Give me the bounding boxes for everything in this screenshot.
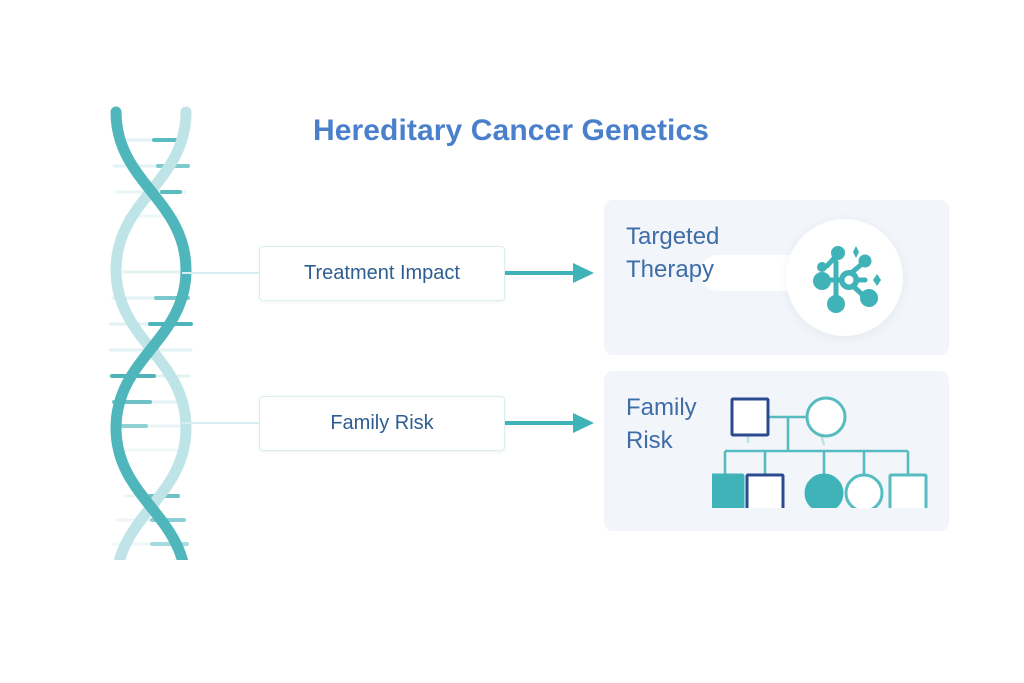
sparkle-icon-top [853, 246, 859, 258]
molecule-node-bottom-right [860, 289, 878, 307]
dna-helix-group [110, 112, 191, 560]
page-title: Hereditary Cancer Genetics [296, 114, 726, 148]
molecule-network-icon [803, 236, 887, 320]
pedigree-father-square [732, 399, 768, 435]
dna-helix-illustration [88, 104, 214, 560]
sparkle-icon-right [873, 274, 881, 286]
icon-circle-targeted-therapy [786, 219, 903, 336]
dna-strand-dark [116, 112, 186, 560]
card-title-targeted-therapy: Targeted Therapy [626, 220, 719, 286]
label-text-family-risk: Family Risk [330, 412, 433, 435]
molecule-node-bottom [827, 295, 845, 313]
pedigree-chart [712, 393, 937, 508]
pedigree-child-1-square-affected [712, 475, 743, 508]
pedigree-child-3-circle-affected [806, 475, 842, 508]
molecule-node-center-hole [844, 275, 853, 284]
label-box-treatment-impact[interactable]: Treatment Impact [259, 246, 505, 301]
dna-strand-light [116, 112, 186, 560]
pedigree-child-5-square [890, 475, 926, 508]
pedigree-mother-circle [807, 398, 845, 436]
pedigree-child-2-square [747, 475, 783, 508]
infographic-canvas: Hereditary Cancer Genetics Treatment Imp… [0, 0, 1024, 683]
molecule-node-left [813, 272, 831, 290]
molecule-node-top-left [831, 246, 845, 260]
arrow-family-to-risk [505, 410, 595, 436]
label-box-family-risk[interactable]: Family Risk [259, 396, 505, 451]
arrow-treatment-to-therapy [505, 260, 595, 286]
connector-line-treatment [182, 272, 262, 274]
pedigree-child-4-circle [846, 475, 882, 508]
card-family-risk[interactable]: Family Risk [604, 371, 949, 531]
molecule-node-top-right [858, 254, 871, 267]
connector-line-family [182, 422, 262, 424]
card-targeted-therapy[interactable]: Targeted Therapy [604, 200, 949, 355]
card-title-family-risk: Family Risk [626, 391, 697, 457]
molecule-node-small-left [817, 262, 827, 272]
label-text-treatment-impact: Treatment Impact [304, 262, 460, 285]
